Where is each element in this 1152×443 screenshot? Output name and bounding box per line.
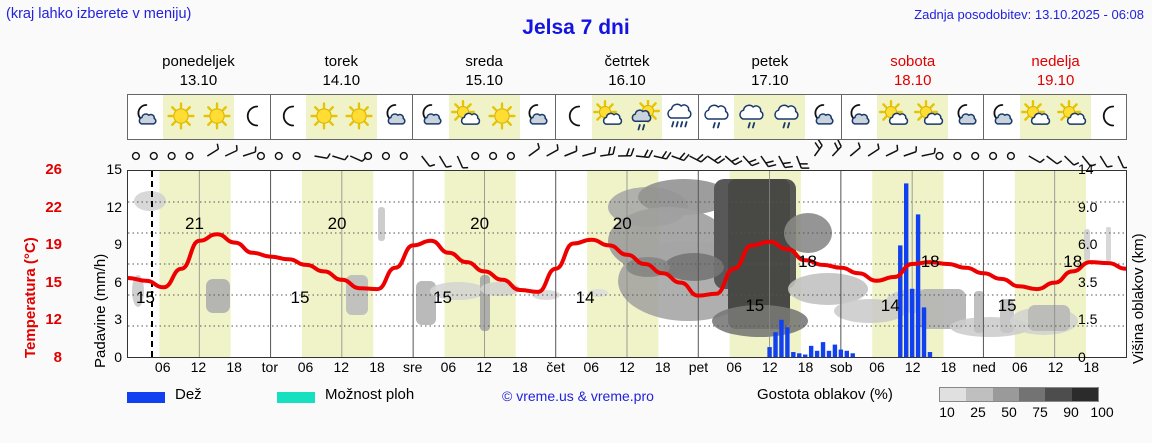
- cloud-density-tick-1: 25: [970, 404, 986, 420]
- cloud-density-tick-4: 90: [1063, 404, 1079, 420]
- svg-text:15: 15: [745, 296, 764, 315]
- svg-text:15: 15: [433, 288, 452, 307]
- temperature-axis-title-text: Temperatura (°C): [22, 237, 39, 358]
- day-name: četrtek: [556, 52, 699, 71]
- moon-icon: [1091, 95, 1126, 139]
- cloud-density-swatch-0: [940, 388, 966, 401]
- wind-barb-band: [127, 140, 1127, 170]
- showers-legend-swatch: [277, 392, 315, 403]
- cloud-density-swatch-1: [966, 388, 992, 401]
- sun-cloud-rain-icon: [627, 95, 662, 139]
- temperature-axis-title: Temperatura (°C): [4, 178, 26, 358]
- tempTick-3: 15: [32, 274, 62, 291]
- tempTick-1: 22: [32, 199, 62, 216]
- icon-group-day-4: [699, 95, 842, 139]
- sun-icon: [306, 95, 341, 139]
- icon-group-day-0: [128, 95, 271, 139]
- cloud-rain-heavy-icon: [662, 95, 697, 139]
- rain-legend-label: Dež: [175, 386, 202, 403]
- precTick-0: 15: [96, 161, 122, 177]
- day-header-3: četrtek16.10: [556, 52, 699, 90]
- sun-cloud-icon: [1020, 95, 1055, 139]
- day-header-0: ponedeljek13.10: [127, 52, 270, 90]
- x-tick-1: 12: [191, 359, 207, 375]
- day-date: 19.10: [984, 71, 1127, 90]
- meteogram-plot: 1521152015201420151814181518: [127, 170, 1127, 358]
- day-name: ponedeljek: [127, 52, 270, 71]
- x-tick-18: 18: [798, 359, 814, 375]
- sun-cloud-icon: [592, 95, 627, 139]
- x-tick-22: 18: [941, 359, 957, 375]
- icon-group-day-6: [984, 95, 1126, 139]
- cloud-rain-icon: [770, 95, 805, 139]
- weather-icon-band: [127, 94, 1127, 140]
- cloudTick-2: 6.0: [1078, 236, 1116, 252]
- x-tick-17: 12: [762, 359, 778, 375]
- day-header-2: sreda15.10: [413, 52, 556, 90]
- day-name: sobota: [841, 52, 984, 71]
- svg-text:14: 14: [881, 296, 900, 315]
- moon-cloud-icon: [377, 95, 412, 139]
- x-tick-5: 12: [333, 359, 349, 375]
- precTick-1: 12: [96, 199, 122, 215]
- x-tick-14: 18: [655, 359, 671, 375]
- day-header-row: ponedeljek13.10torek14.10sreda15.10četrt…: [127, 52, 1127, 90]
- day-name: torek: [270, 52, 413, 71]
- day-header-6: nedelja19.10: [984, 52, 1127, 90]
- x-tick-6: 18: [369, 359, 385, 375]
- cloud-density-swatch-2: [993, 388, 1019, 401]
- cloud-density-tick-5: 100: [1090, 404, 1113, 420]
- tempTick-0: 26: [32, 161, 62, 178]
- svg-text:18: 18: [921, 252, 940, 271]
- svg-text:14: 14: [576, 288, 595, 307]
- svg-text:15: 15: [291, 288, 310, 307]
- x-tick-11: čet: [546, 359, 565, 375]
- moon-cloud-icon: [948, 95, 983, 139]
- day-header-4: petek17.10: [698, 52, 841, 90]
- cloud-density-tick-0: 10: [939, 404, 955, 420]
- day-name: petek: [698, 52, 841, 71]
- moon-cloud-icon: [128, 95, 163, 139]
- tempTick-5: 8: [32, 349, 62, 366]
- svg-text:21: 21: [185, 214, 204, 233]
- cloudTick-4: 1.5: [1078, 311, 1116, 327]
- x-tick-25: 12: [1048, 359, 1064, 375]
- x-tick-15: pet: [689, 359, 708, 375]
- x-tick-19: sob: [830, 359, 853, 375]
- day-date: 16.10: [556, 71, 699, 90]
- x-tick-3: tor: [262, 359, 278, 375]
- cloud-density-tick-2: 50: [1001, 404, 1017, 420]
- precTick-4: 3: [96, 311, 122, 327]
- svg-text:20: 20: [613, 214, 632, 233]
- x-tick-21: 12: [905, 359, 921, 375]
- day-name: nedelja: [984, 52, 1127, 71]
- moon-cloud-icon: [984, 95, 1019, 139]
- icon-group-day-1: [271, 95, 414, 139]
- x-tick-10: 18: [512, 359, 528, 375]
- icon-group-day-3: [556, 95, 699, 139]
- tempTick-4: 12: [32, 311, 62, 328]
- x-tick-9: 12: [476, 359, 492, 375]
- moon-cloud-icon: [805, 95, 840, 139]
- precTick-3: 6: [96, 274, 122, 290]
- sun-icon: [163, 95, 198, 139]
- sun-cloud-icon: [877, 95, 912, 139]
- cloud-density-swatch-3: [1019, 388, 1045, 401]
- moon-icon: [556, 95, 591, 139]
- svg-text:20: 20: [328, 214, 347, 233]
- sun-icon: [199, 95, 234, 139]
- moon-icon: [271, 95, 306, 139]
- x-tick-2: 18: [226, 359, 242, 375]
- cloudTick-3: 3.5: [1078, 274, 1116, 290]
- day-name: sreda: [413, 52, 556, 71]
- moon-icon: [234, 95, 269, 139]
- precipitation-axis-title: Padavine (mm/h): [72, 178, 94, 368]
- day-date: 15.10: [413, 71, 556, 90]
- x-tick-4: 06: [298, 359, 314, 375]
- tempTick-2: 19: [32, 236, 62, 253]
- sun-cloud-icon: [449, 95, 484, 139]
- x-axis-tick-labels: 061218tor061218sre061218čet061218pet0612…: [127, 359, 1127, 379]
- x-tick-20: 06: [869, 359, 885, 375]
- moon-cloud-icon: [842, 95, 877, 139]
- svg-text:18: 18: [1063, 252, 1082, 271]
- x-tick-7: sre: [403, 359, 422, 375]
- day-date: 17.10: [698, 71, 841, 90]
- cloud-height-axis-title: Višina oblakov (km): [1128, 172, 1150, 367]
- icon-group-day-2: [413, 95, 556, 139]
- last-update-label: Zadnja posodobitev: 13.10.2025 - 06:08: [914, 7, 1144, 22]
- rain-legend-swatch: [127, 392, 165, 403]
- svg-text:15: 15: [136, 288, 155, 307]
- cloud-density-tick-labels: 1025507590100: [933, 404, 1109, 422]
- svg-text:20: 20: [470, 214, 489, 233]
- sun-icon: [342, 95, 377, 139]
- icon-group-day-5: [842, 95, 985, 139]
- cloudTick-1: 9.0: [1078, 199, 1116, 215]
- precTick-5: 0: [96, 349, 122, 365]
- chart-legend: Dež Možnost ploh © vreme.us & vreme.pro …: [127, 386, 1137, 426]
- x-tick-23: ned: [972, 359, 995, 375]
- cloud-height-axis-title-text: Višina oblakov (km): [1130, 233, 1147, 364]
- cloud-density-swatch-4: [1045, 388, 1071, 401]
- day-header-5: sobota18.10: [841, 52, 984, 90]
- sun-cloud-icon: [1055, 95, 1090, 139]
- svg-text:18: 18: [798, 252, 817, 271]
- day-date: 13.10: [127, 71, 270, 90]
- x-tick-8: 06: [441, 359, 457, 375]
- x-tick-13: 12: [619, 359, 635, 375]
- x-tick-26: 18: [1083, 359, 1099, 375]
- moon-cloud-icon: [520, 95, 555, 139]
- day-date: 14.10: [270, 71, 413, 90]
- day-header-1: torek14.10: [270, 52, 413, 90]
- cloud-density-swatch-5: [1072, 388, 1098, 401]
- precTick-2: 9: [96, 236, 122, 252]
- cloud-rain-icon: [699, 95, 734, 139]
- cloud-density-tick-3: 75: [1032, 404, 1048, 420]
- cloud-density-colorbar: [939, 387, 1099, 402]
- sun-icon: [484, 95, 519, 139]
- copyright-link[interactable]: © vreme.us & vreme.pro: [502, 388, 654, 404]
- cloudTick-0: 14: [1078, 161, 1116, 177]
- x-tick-16: 06: [726, 359, 742, 375]
- moon-cloud-icon: [413, 95, 448, 139]
- svg-text:15: 15: [998, 296, 1017, 315]
- cloud-density-legend-label: Gostota oblakov (%): [757, 386, 893, 403]
- x-tick-12: 06: [583, 359, 599, 375]
- x-tick-24: 06: [1012, 359, 1028, 375]
- cloud-rain-icon: [734, 95, 769, 139]
- x-tick-0: 06: [155, 359, 171, 375]
- sun-cloud-icon: [912, 95, 947, 139]
- showers-legend-label: Možnost ploh: [325, 386, 414, 403]
- day-date: 18.10: [841, 71, 984, 90]
